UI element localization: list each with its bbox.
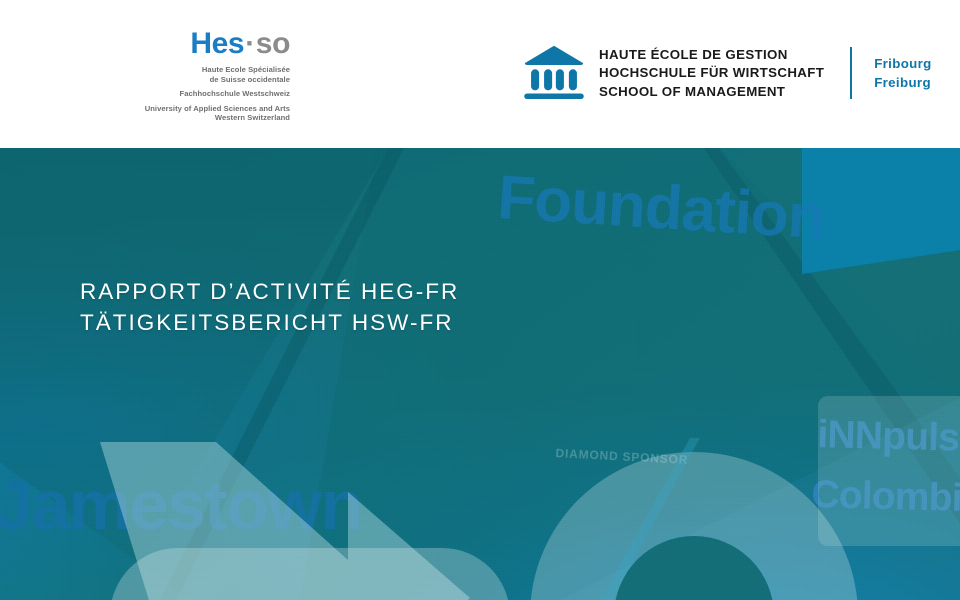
hes-so-wordmark-primary: Hes — [190, 27, 244, 60]
heg-fr-name-en: SCHOOL OF MANAGEMENT — [599, 83, 824, 101]
cover-title-line-fr: RAPPORT D’ACTIVITÉ HEG-FR — [80, 276, 459, 307]
hes-so-wordmark-secondary: so — [256, 27, 290, 60]
heg-fr-logo: HAUTE ÉCOLE DE GESTION HOCHSCHULE FÜR WI… — [523, 33, 932, 113]
heg-fr-city-de: Freiburg — [874, 74, 931, 92]
hes-so-subtitle-fr-line2: de Suisse occidentale — [60, 75, 290, 85]
logo-divider — [850, 47, 852, 99]
heg-fr-names: HAUTE ÉCOLE DE GESTION HOCHSCHULE FÜR WI… — [599, 45, 824, 101]
cover-hero: Foundation Jamestown iNNpulsa Colombia D… — [0, 148, 960, 600]
heg-fr-city: Fribourg Freiburg — [874, 54, 931, 91]
cover-background-artwork: Foundation Jamestown iNNpulsa Colombia D… — [0, 148, 960, 600]
cover-title: RAPPORT D’ACTIVITÉ HEG-FR TÄTIGKEITSBERI… — [80, 276, 459, 338]
hes-so-subtitle-en-line1: University of Applied Sciences and Arts — [60, 104, 290, 114]
heg-fr-name-de: HOCHSCHULE FÜR WIRTSCHAFT — [599, 64, 824, 82]
hes-so-wordmark: Hes·so — [60, 28, 290, 60]
cover-title-line-de: TÄTIGKEITSBERICHT HSW-FR — [80, 307, 459, 338]
classical-building-icon — [523, 42, 585, 104]
heg-fr-city-fr: Fribourg — [874, 55, 931, 73]
hes-so-logo: Hes·so Haute Ecole Spécialisée de Suisse… — [60, 28, 290, 123]
background-translucent-shapes — [0, 148, 960, 600]
heg-fr-name-fr: HAUTE ÉCOLE DE GESTION — [599, 46, 824, 64]
header-bar: Hes·so Haute Ecole Spécialisée de Suisse… — [0, 0, 960, 148]
hes-so-subtitle-de: Fachhochschule Westschweiz — [60, 89, 290, 99]
hes-so-wordmark-dot: · — [244, 27, 256, 60]
hes-so-subtitle-en-line2: Western Switzerland — [60, 113, 290, 123]
report-cover-page: Hes·so Haute Ecole Spécialisée de Suisse… — [0, 0, 960, 600]
hes-so-subtitle-fr-line1: Haute Ecole Spécialisée — [60, 65, 290, 75]
